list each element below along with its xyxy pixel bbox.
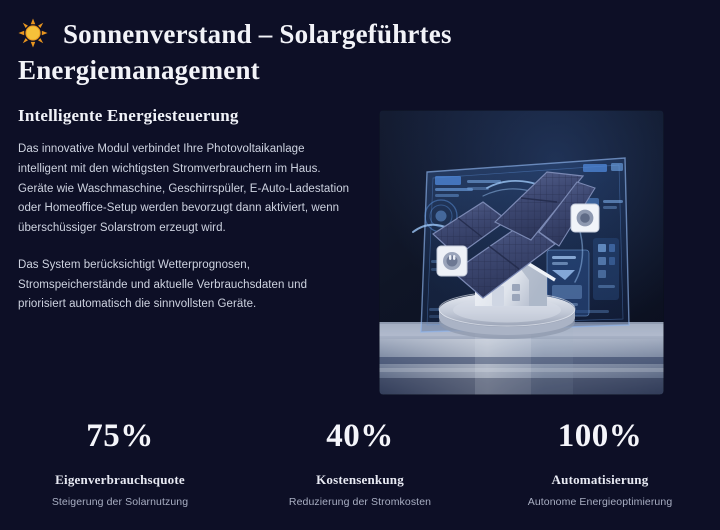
body-paragraph-2: Das System berücksichtigt Wetterprognose… [18,256,356,315]
stat-card-automatisierung: 100% Automatisierung Autonome Energieopt… [480,414,720,524]
stat-value: 75% [0,418,240,456]
stats-row: 75% Eigenverbrauchsquote Steigerung der … [0,414,720,524]
page-title-line2: Energiemanagement [18,55,260,85]
stat-sublabel: Steigerung der Solarnutzung [0,496,240,508]
hero-illustration [379,110,664,395]
smart-plug-left [437,246,467,276]
stat-card-eigenverbrauchsquote: 75% Eigenverbrauchsquote Steigerung der … [0,414,240,524]
stat-sublabel: Autonome Energieoptimierung [480,496,720,508]
page-title: Sonnenverstand – Solargeführtes Energiem… [18,16,518,89]
sun-icon [18,18,48,48]
hero-image [379,110,664,395]
stat-value: 100% [480,418,720,456]
page-title-line1: Sonnenverstand – Solargeführtes [63,19,452,49]
smart-plug-right [571,204,599,232]
stat-label: Automatisierung [480,472,720,488]
stat-card-kostensenkung: 40% Kostensenkung Reduzierung der Stromk… [240,414,480,524]
section-heading: Intelligente Energiesteuerung [18,106,356,126]
body-paragraph-1: Das innovative Modul verbindet Ihre Phot… [18,140,356,239]
stat-label: Eigenverbrauchsquote [0,472,240,488]
stat-value: 40% [240,418,480,456]
description-column: Intelligente Energiesteuerung Das innova… [18,106,356,315]
stat-sublabel: Reduzierung der Stromkosten [240,496,480,508]
stat-label: Kostensenkung [240,472,480,488]
